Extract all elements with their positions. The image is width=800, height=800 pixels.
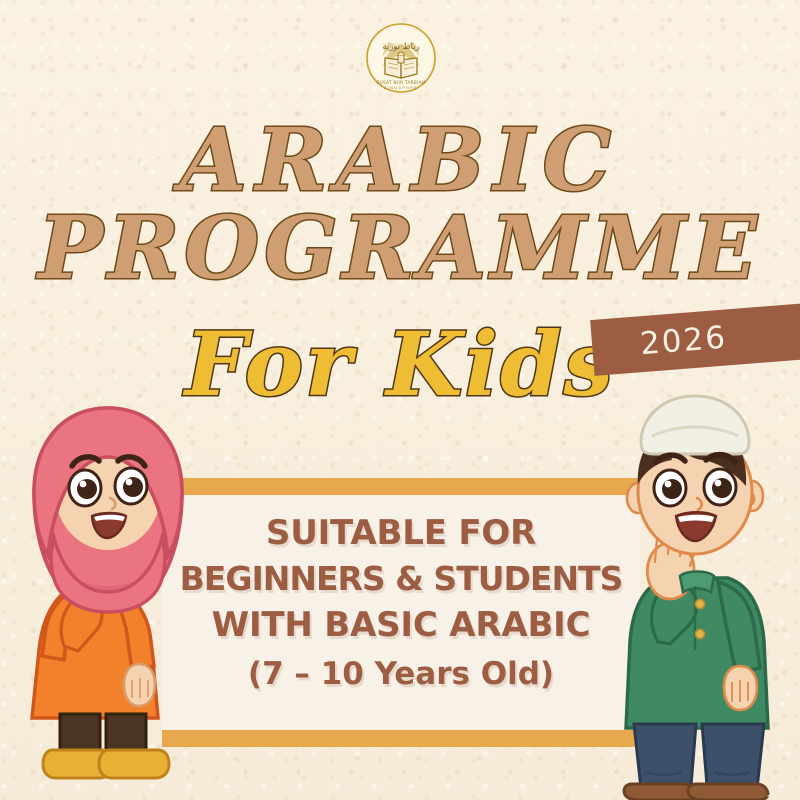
svg-text:PUSAT NUR TARBIAH: PUSAT NUR TARBIAH: [377, 80, 425, 85]
panel-age-note: (7 – 10 Years Old): [170, 648, 632, 700]
panel-line-2: BEGINNERS & STUDENTS: [170, 556, 632, 602]
year-badge-label: 2026: [639, 319, 728, 362]
title-line-1: ARABIC: [0, 118, 800, 204]
open-book-tree-emblem-icon: رياط نورية PUSAT NUR TARBIAH SINGAPORE: [365, 22, 437, 94]
title-line-2: PROGRAMME: [0, 206, 800, 292]
panel-text-block: SUITABLE FOR BEGINNERS & STUDENTS WITH B…: [170, 510, 632, 700]
poster-canvas: رياط نورية PUSAT NUR TARBIAH SINGAPORE A…: [0, 0, 800, 800]
girl-illustration-icon: [6, 388, 211, 800]
panel-line-1: SUITABLE FOR: [170, 510, 632, 556]
boy-illustration-icon: [600, 380, 800, 800]
waving-girl-in-hijab: [6, 388, 211, 800]
svg-text:رياط نورية: رياط نورية: [382, 42, 419, 52]
organisation-logo: رياط نورية PUSAT NUR TARBIAH SINGAPORE: [365, 22, 437, 94]
panel-line-3: WITH BASIC ARABIC: [170, 602, 632, 648]
panel-bar-bottom: [162, 730, 640, 747]
svg-text:SINGAPORE: SINGAPORE: [384, 86, 418, 90]
panel-bar-top: [162, 478, 640, 495]
waving-boy-in-kurta: [600, 380, 800, 800]
